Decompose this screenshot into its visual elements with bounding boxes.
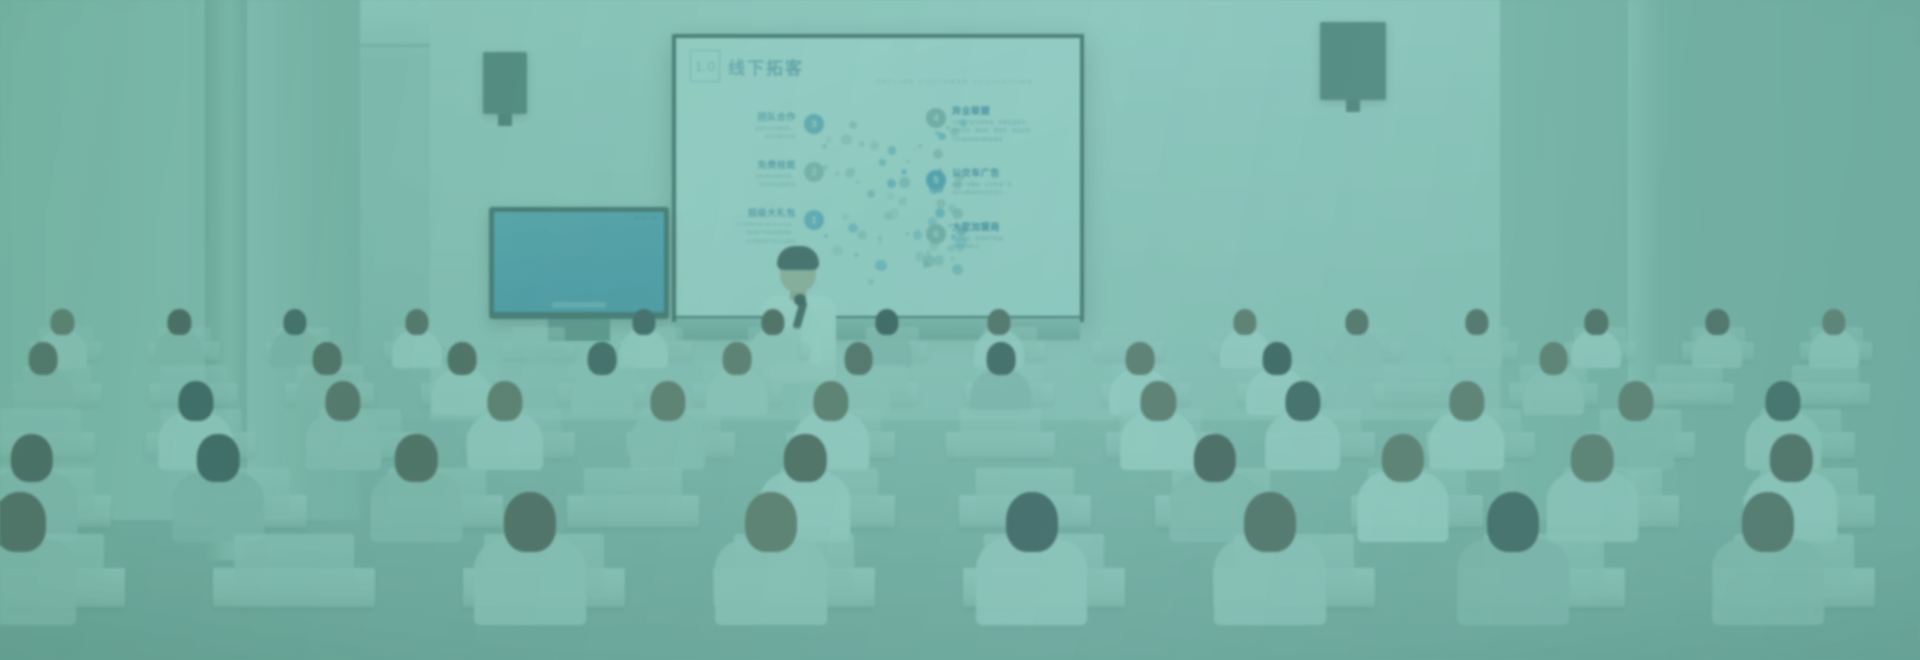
vignette-overlay: [0, 0, 1920, 660]
lecture-hall-banner: 1.0 线下拓客 OFFLINE CUSTOMER ACQUISITION 超级…: [0, 0, 1920, 660]
